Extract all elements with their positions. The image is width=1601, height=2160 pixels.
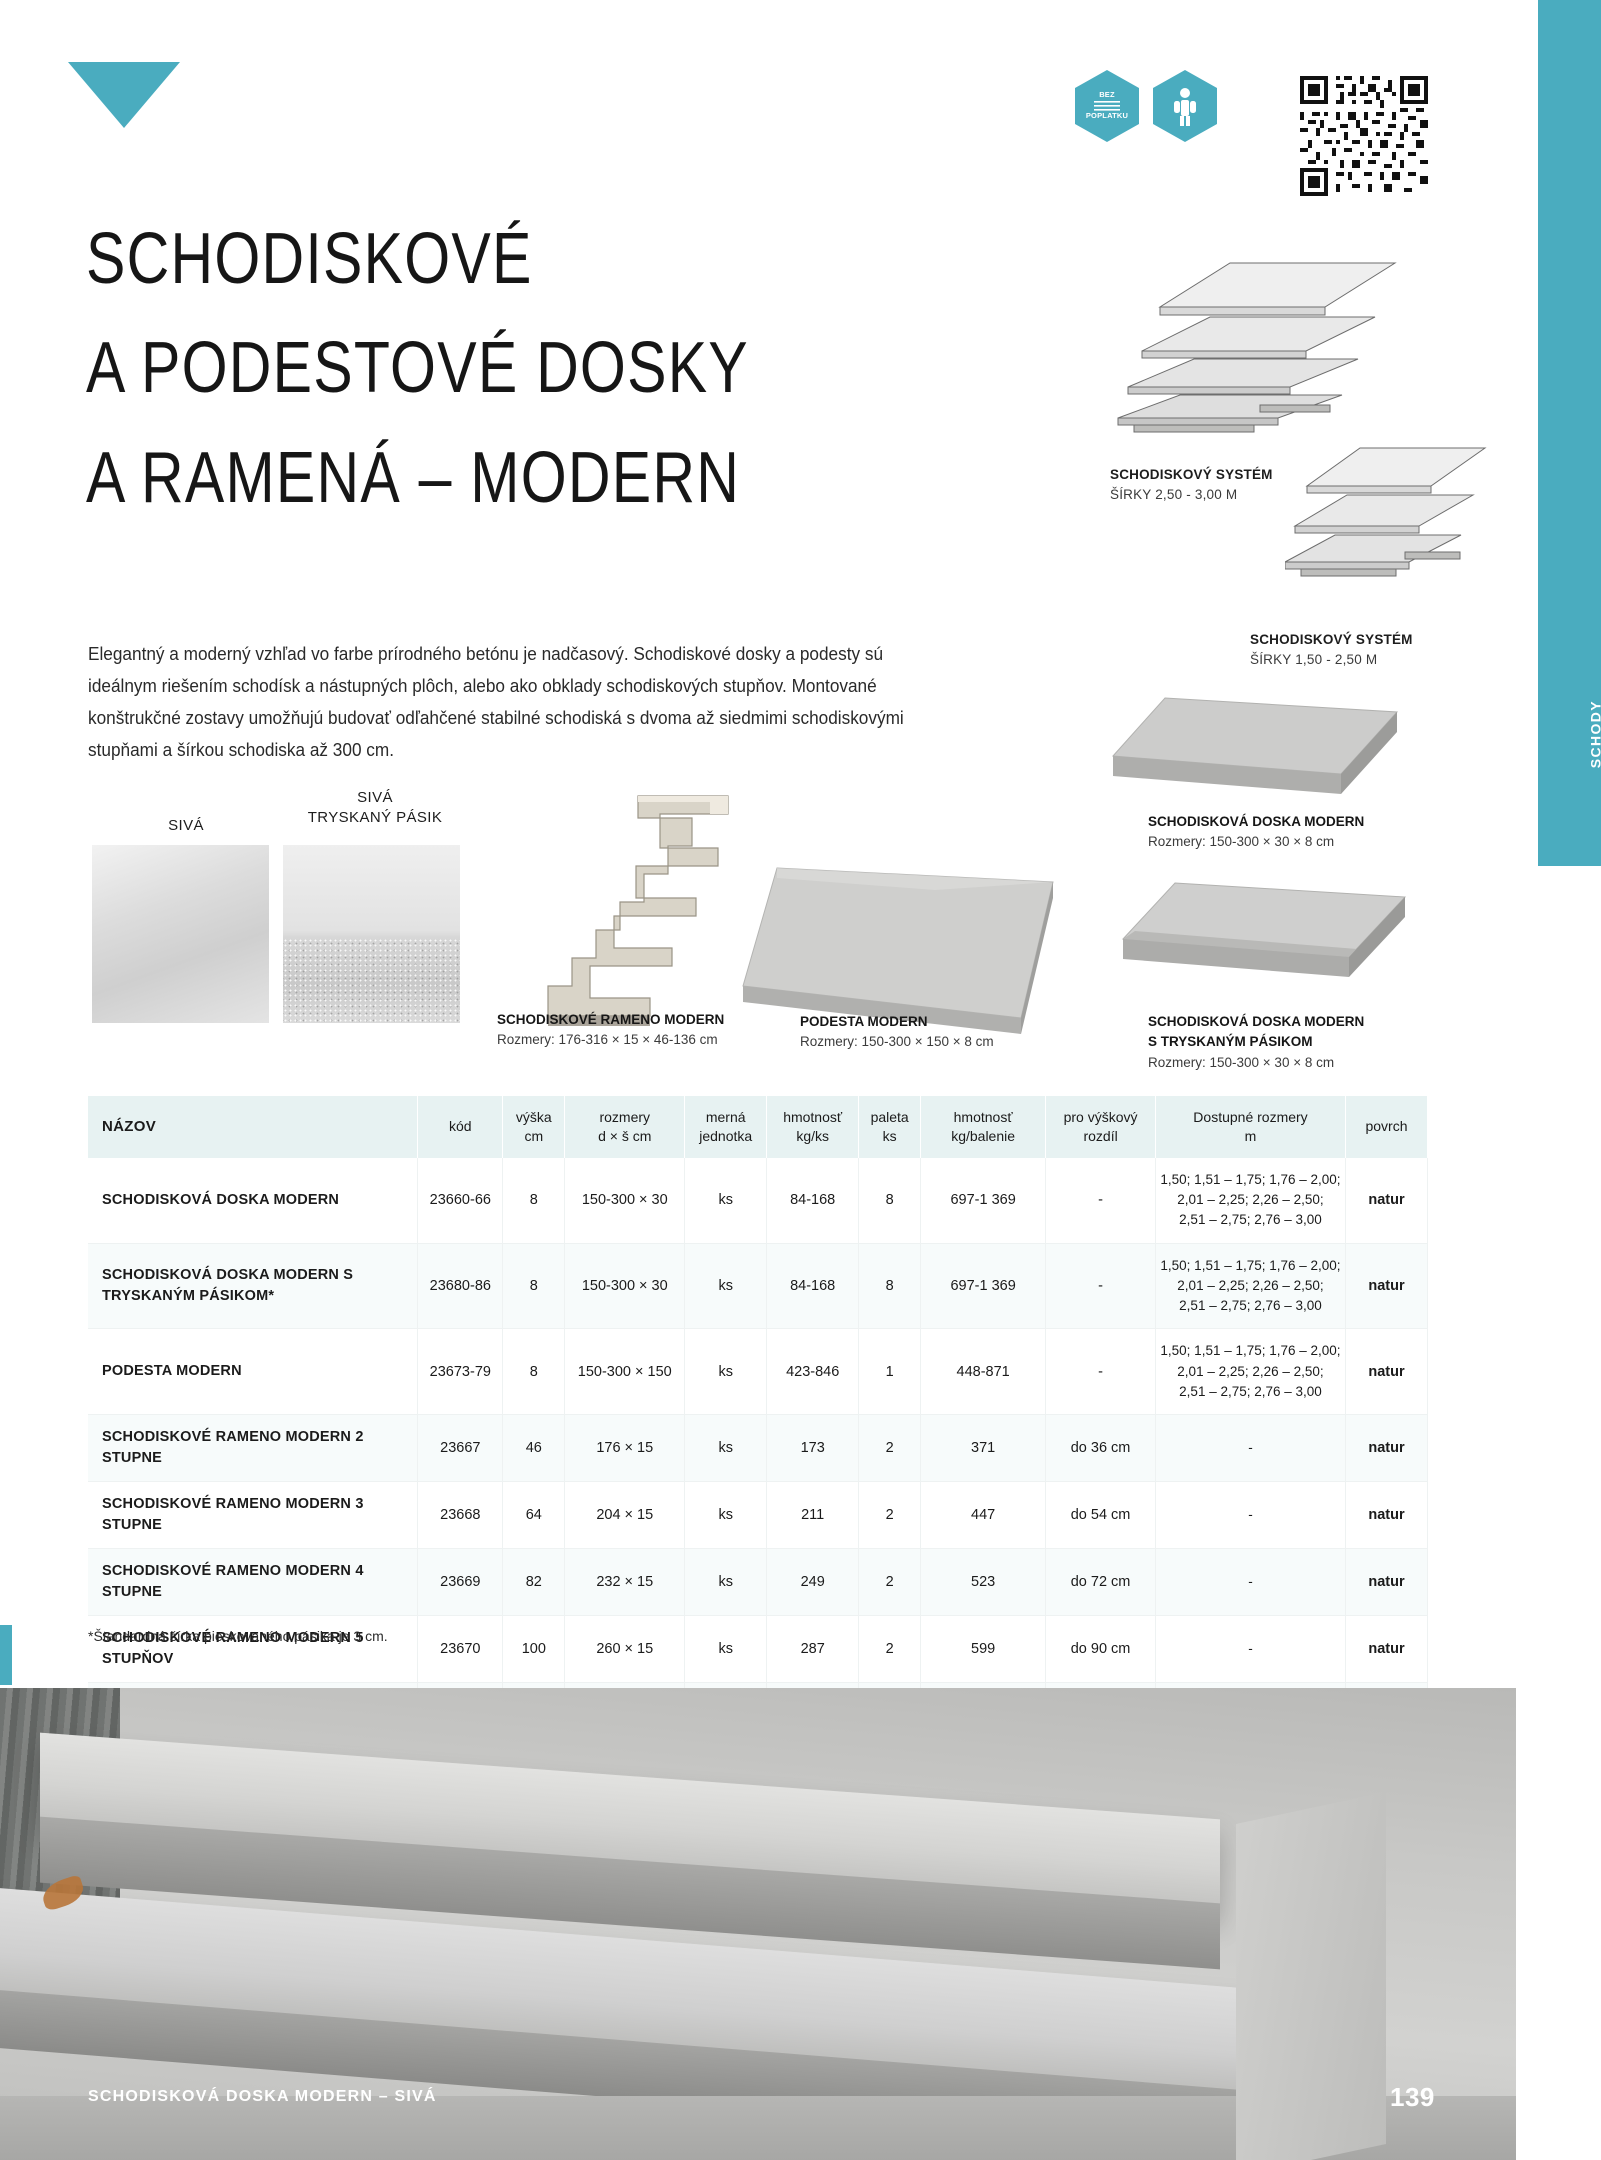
qr-code-icon xyxy=(1300,76,1428,196)
cell-height: 46 xyxy=(503,1415,565,1482)
th-weight-pack-l1: hmotnosť xyxy=(925,1108,1041,1127)
th-height-diff-l2: rozdíl xyxy=(1050,1127,1151,1146)
swatch-label-blasted-l1: SIVÁ xyxy=(280,788,470,808)
cell-surface: natur xyxy=(1345,1415,1427,1482)
cell-weight-pack: 599 xyxy=(921,1616,1046,1683)
cell-surface: natur xyxy=(1345,1549,1427,1616)
cell-unit: ks xyxy=(685,1482,767,1549)
bez-poplatku-badge-icon: BEZ POPLATKU xyxy=(1075,70,1139,142)
cell-available: - xyxy=(1156,1482,1346,1549)
cell-dims: 150-300 × 150 xyxy=(565,1329,685,1415)
table-row: SCHODISKOVÁ DOSKA MODERN S TRYSKANÝM PÁS… xyxy=(88,1243,1428,1329)
cell-code: 23680-86 xyxy=(418,1243,503,1329)
product-name: PODESTA MODERN xyxy=(800,1012,1100,1032)
table-header-row: NÁZOV kód výška cm rozmery d × š cm me xyxy=(88,1096,1428,1158)
cell-code: 23673-79 xyxy=(418,1329,503,1415)
section-side-tab-label: SCHODY xyxy=(1587,700,1601,768)
th-height-l2: cm xyxy=(507,1127,560,1146)
hero-right-margin xyxy=(1516,1688,1601,2160)
th-weight-pack-l2: kg/balenie xyxy=(925,1127,1041,1146)
stair-flight-photo-icon xyxy=(520,790,750,1035)
cell-dims: 150-300 × 30 xyxy=(565,1243,685,1329)
cell-weight-pack: 697-1 369 xyxy=(921,1243,1046,1329)
th-pallet-l1: paleta xyxy=(863,1108,916,1127)
cell-weight-pack: 523 xyxy=(921,1549,1046,1616)
cell-surface: natur xyxy=(1345,1243,1427,1329)
stair-slab-blasted-photo-icon xyxy=(1115,875,1415,1020)
page-title-line1: SCHODISKOVÉ xyxy=(86,205,922,314)
cell-height-diff: do 36 cm xyxy=(1046,1415,1156,1482)
cell-height-diff: - xyxy=(1046,1158,1156,1243)
cell-weight-pc: 84-168 xyxy=(767,1243,859,1329)
table-footnote: *Štandardná šírka pieskovaného pásika je… xyxy=(88,1628,388,1644)
stair-slab-caption: SCHODISKOVÁ DOSKA MODERN Rozmery: 150-30… xyxy=(1148,812,1448,853)
cell-height: 8 xyxy=(503,1158,565,1243)
th-available-l1: Dostupné rozmery xyxy=(1160,1108,1341,1127)
person-icon xyxy=(1170,85,1200,127)
cell-name: SCHODISKOVÁ DOSKA MODERN xyxy=(88,1158,418,1243)
catalog-page: SCHODY BEZ POPLATKU xyxy=(0,0,1601,2160)
table-head: NÁZOV kód výška cm rozmery d × š cm me xyxy=(88,1096,1428,1158)
th-weight-pc-l1: hmotnosť xyxy=(771,1108,854,1127)
cell-unit: ks xyxy=(685,1329,767,1415)
cell-available: 1,50; 1,51 – 1,75; 1,76 – 2,00;2,01 – 2,… xyxy=(1156,1158,1346,1243)
cell-weight-pack: 697-1 369 xyxy=(921,1158,1046,1243)
cell-surface: natur xyxy=(1345,1158,1427,1243)
page-title-line2: A PODESTOVÉ DOSKY xyxy=(86,314,922,423)
cell-weight-pc: 249 xyxy=(767,1549,859,1616)
cell-height-diff: - xyxy=(1046,1243,1156,1329)
th-code: kód xyxy=(418,1096,503,1158)
lines-icon xyxy=(1094,101,1120,111)
cell-available: - xyxy=(1156,1616,1346,1683)
th-weight-pack: hmotnosť kg/balenie xyxy=(921,1096,1046,1158)
cell-height-diff: do 90 cm xyxy=(1046,1616,1156,1683)
cell-height: 100 xyxy=(503,1616,565,1683)
table-row: SCHODISKOVÉ RAMENO MODERN 3 STUPNE236686… xyxy=(88,1482,1428,1549)
cell-unit: ks xyxy=(685,1616,767,1683)
badge-group: BEZ POPLATKU xyxy=(1075,70,1217,142)
table-row: SCHODISKOVÉ RAMENO MODERN 4 STUPNE236698… xyxy=(88,1549,1428,1616)
cell-name: SCHODISKOVÉ RAMENO MODERN 5 STUPŇOV xyxy=(88,1616,418,1683)
table-row: SCHODISKOVÉ RAMENO MODERN 2 STUPNE236674… xyxy=(88,1415,1428,1482)
th-height-diff-l1: pro výškový xyxy=(1050,1108,1151,1127)
stair-system-isometric-narrow-icon xyxy=(1285,440,1495,620)
th-name: NÁZOV xyxy=(88,1096,418,1158)
cell-height-diff: do 72 cm xyxy=(1046,1549,1156,1616)
left-accent-sliver xyxy=(0,1625,12,1685)
cell-name: PODESTA MODERN xyxy=(88,1329,418,1415)
cell-weight-pc: 173 xyxy=(767,1415,859,1482)
stair-system-isometric-wide-icon xyxy=(1110,255,1410,450)
th-pallet-l2: ks xyxy=(863,1127,916,1146)
table-row: SCHODISKOVÉ RAMENO MODERN 5 STUPŇOV23670… xyxy=(88,1616,1428,1683)
cell-code: 23668 xyxy=(418,1482,503,1549)
cell-dims: 204 × 15 xyxy=(565,1482,685,1549)
swatch-label-blasted-l2: TRYSKANÝ PÁSIK xyxy=(280,808,470,828)
page-number: 139 xyxy=(1390,2082,1435,2113)
cell-height: 8 xyxy=(503,1243,565,1329)
cell-height: 64 xyxy=(503,1482,565,1549)
cell-available: - xyxy=(1156,1415,1346,1482)
cell-weight-pc: 211 xyxy=(767,1482,859,1549)
th-height-diff: pro výškový rozdíl xyxy=(1046,1096,1156,1158)
cell-surface: natur xyxy=(1345,1329,1427,1415)
cell-height-diff: - xyxy=(1046,1329,1156,1415)
th-surface: povrch xyxy=(1345,1096,1427,1158)
cell-code: 23670 xyxy=(418,1616,503,1683)
cell-surface: natur xyxy=(1345,1482,1427,1549)
product-dims: Rozmery: 150-300 × 30 × 8 cm xyxy=(1148,832,1448,852)
cell-pallet: 2 xyxy=(859,1482,921,1549)
cell-name: SCHODISKOVÁ DOSKA MODERN S TRYSKANÝM PÁS… xyxy=(88,1243,418,1329)
th-dims: rozmery d × š cm xyxy=(565,1096,685,1158)
cell-pallet: 2 xyxy=(859,1616,921,1683)
cell-pallet: 2 xyxy=(859,1549,921,1616)
side-wall xyxy=(1236,1792,1386,2160)
product-name-l2: S TRYSKANÝM PÁSIKOM xyxy=(1148,1032,1458,1052)
person-walking-badge-icon xyxy=(1153,70,1217,142)
swatch-label-siva: SIVÁ xyxy=(96,816,276,836)
th-unit: merná jednotka xyxy=(685,1096,767,1158)
cell-name: SCHODISKOVÉ RAMENO MODERN 2 STUPNE xyxy=(88,1415,418,1482)
cell-code: 23660-66 xyxy=(418,1158,503,1243)
caption-line1: SCHODISKOVÝ SYSTÉM xyxy=(1250,630,1500,650)
product-name-l1: SCHODISKOVÁ DOSKA MODERN xyxy=(1148,1012,1458,1032)
th-available: Dostupné rozmery m xyxy=(1156,1096,1346,1158)
th-height: výška cm xyxy=(503,1096,565,1158)
th-weight-pc-l2: kg/ks xyxy=(771,1127,854,1146)
caption-line2: ŠÍRKY 1,50 - 2,50 M xyxy=(1250,650,1500,670)
th-weight-pc: hmotnosť kg/ks xyxy=(767,1096,859,1158)
gray-concrete-swatch-icon xyxy=(92,845,269,1023)
chevron-down-logo-icon xyxy=(68,62,180,134)
th-dims-l1: rozmery xyxy=(569,1108,680,1127)
badge-line2: POPLATKU xyxy=(1086,112,1128,121)
intro-paragraph: Elegantný a moderný vzhľad vo farbe prír… xyxy=(88,638,953,766)
cell-dims: 260 × 15 xyxy=(565,1616,685,1683)
cell-available: 1,50; 1,51 – 1,75; 1,76 – 2,00;2,01 – 2,… xyxy=(1156,1329,1346,1415)
product-name: SCHODISKOVÁ DOSKA MODERN xyxy=(1148,812,1448,832)
cell-weight-pack: 447 xyxy=(921,1482,1046,1549)
cell-available: 1,50; 1,51 – 1,75; 1,76 – 2,00;2,01 – 2,… xyxy=(1156,1243,1346,1329)
cell-weight-pack: 448-871 xyxy=(921,1329,1046,1415)
cell-height: 82 xyxy=(503,1549,565,1616)
cell-available: - xyxy=(1156,1549,1346,1616)
th-unit-l2: jednotka xyxy=(689,1127,762,1146)
stair-slab-blasted-caption: SCHODISKOVÁ DOSKA MODERN S TRYSKANÝM PÁS… xyxy=(1148,1012,1458,1073)
landing-slab-caption: PODESTA MODERN Rozmery: 150-300 × 150 × … xyxy=(800,1012,1100,1053)
cell-unit: ks xyxy=(685,1158,767,1243)
cell-height-diff: do 54 cm xyxy=(1046,1482,1156,1549)
page-title: SCHODISKOVÉ A PODESTOVÉ DOSKY A RAMENÁ –… xyxy=(86,205,922,533)
cell-pallet: 8 xyxy=(859,1158,921,1243)
cell-unit: ks xyxy=(685,1415,767,1482)
table-row: PODESTA MODERN23673-798150-300 × 150ks42… xyxy=(88,1329,1428,1415)
cell-dims: 232 × 15 xyxy=(565,1549,685,1616)
cell-weight-pc: 287 xyxy=(767,1616,859,1683)
th-available-l2: m xyxy=(1160,1127,1341,1146)
table-row: SCHODISKOVÁ DOSKA MODERN23660-668150-300… xyxy=(88,1158,1428,1243)
gray-blasted-strip-swatch-icon xyxy=(283,845,460,1023)
cell-height: 8 xyxy=(503,1329,565,1415)
cell-surface: natur xyxy=(1345,1616,1427,1683)
cell-code: 23669 xyxy=(418,1549,503,1616)
cell-pallet: 2 xyxy=(859,1415,921,1482)
cell-pallet: 8 xyxy=(859,1243,921,1329)
cell-weight-pc: 84-168 xyxy=(767,1158,859,1243)
product-dims: Rozmery: 150-300 × 150 × 8 cm xyxy=(800,1032,1100,1052)
th-pallet: paleta ks xyxy=(859,1096,921,1158)
th-unit-l1: merná xyxy=(689,1108,762,1127)
th-height-l1: výška xyxy=(507,1108,560,1127)
cell-weight-pc: 423-846 xyxy=(767,1329,859,1415)
cell-pallet: 1 xyxy=(859,1329,921,1415)
th-code-l1: kód xyxy=(422,1117,498,1136)
cell-dims: 150-300 × 30 xyxy=(565,1158,685,1243)
cell-unit: ks xyxy=(685,1243,767,1329)
cell-weight-pack: 371 xyxy=(921,1415,1046,1482)
cell-name: SCHODISKOVÉ RAMENO MODERN 3 STUPNE xyxy=(88,1482,418,1549)
swatch-label-blasted: SIVÁ TRYSKANÝ PÁSIK xyxy=(280,788,470,827)
badge-line1: BEZ xyxy=(1099,91,1115,100)
cell-code: 23667 xyxy=(418,1415,503,1482)
footer-caption: SCHODISKOVÁ DOSKA MODERN – SIVÁ xyxy=(88,2088,437,2106)
cell-dims: 176 × 15 xyxy=(565,1415,685,1482)
cell-unit: ks xyxy=(685,1549,767,1616)
th-dims-l2: d × š cm xyxy=(569,1127,680,1146)
cell-name: SCHODISKOVÉ RAMENO MODERN 4 STUPNE xyxy=(88,1549,418,1616)
stair-system-narrow-caption: SCHODISKOVÝ SYSTÉM ŠÍRKY 1,50 - 2,50 M xyxy=(1250,630,1500,669)
product-dims: Rozmery: 150-300 × 30 × 8 cm xyxy=(1148,1053,1458,1073)
page-title-line3: A RAMENÁ – MODERN xyxy=(86,424,922,533)
